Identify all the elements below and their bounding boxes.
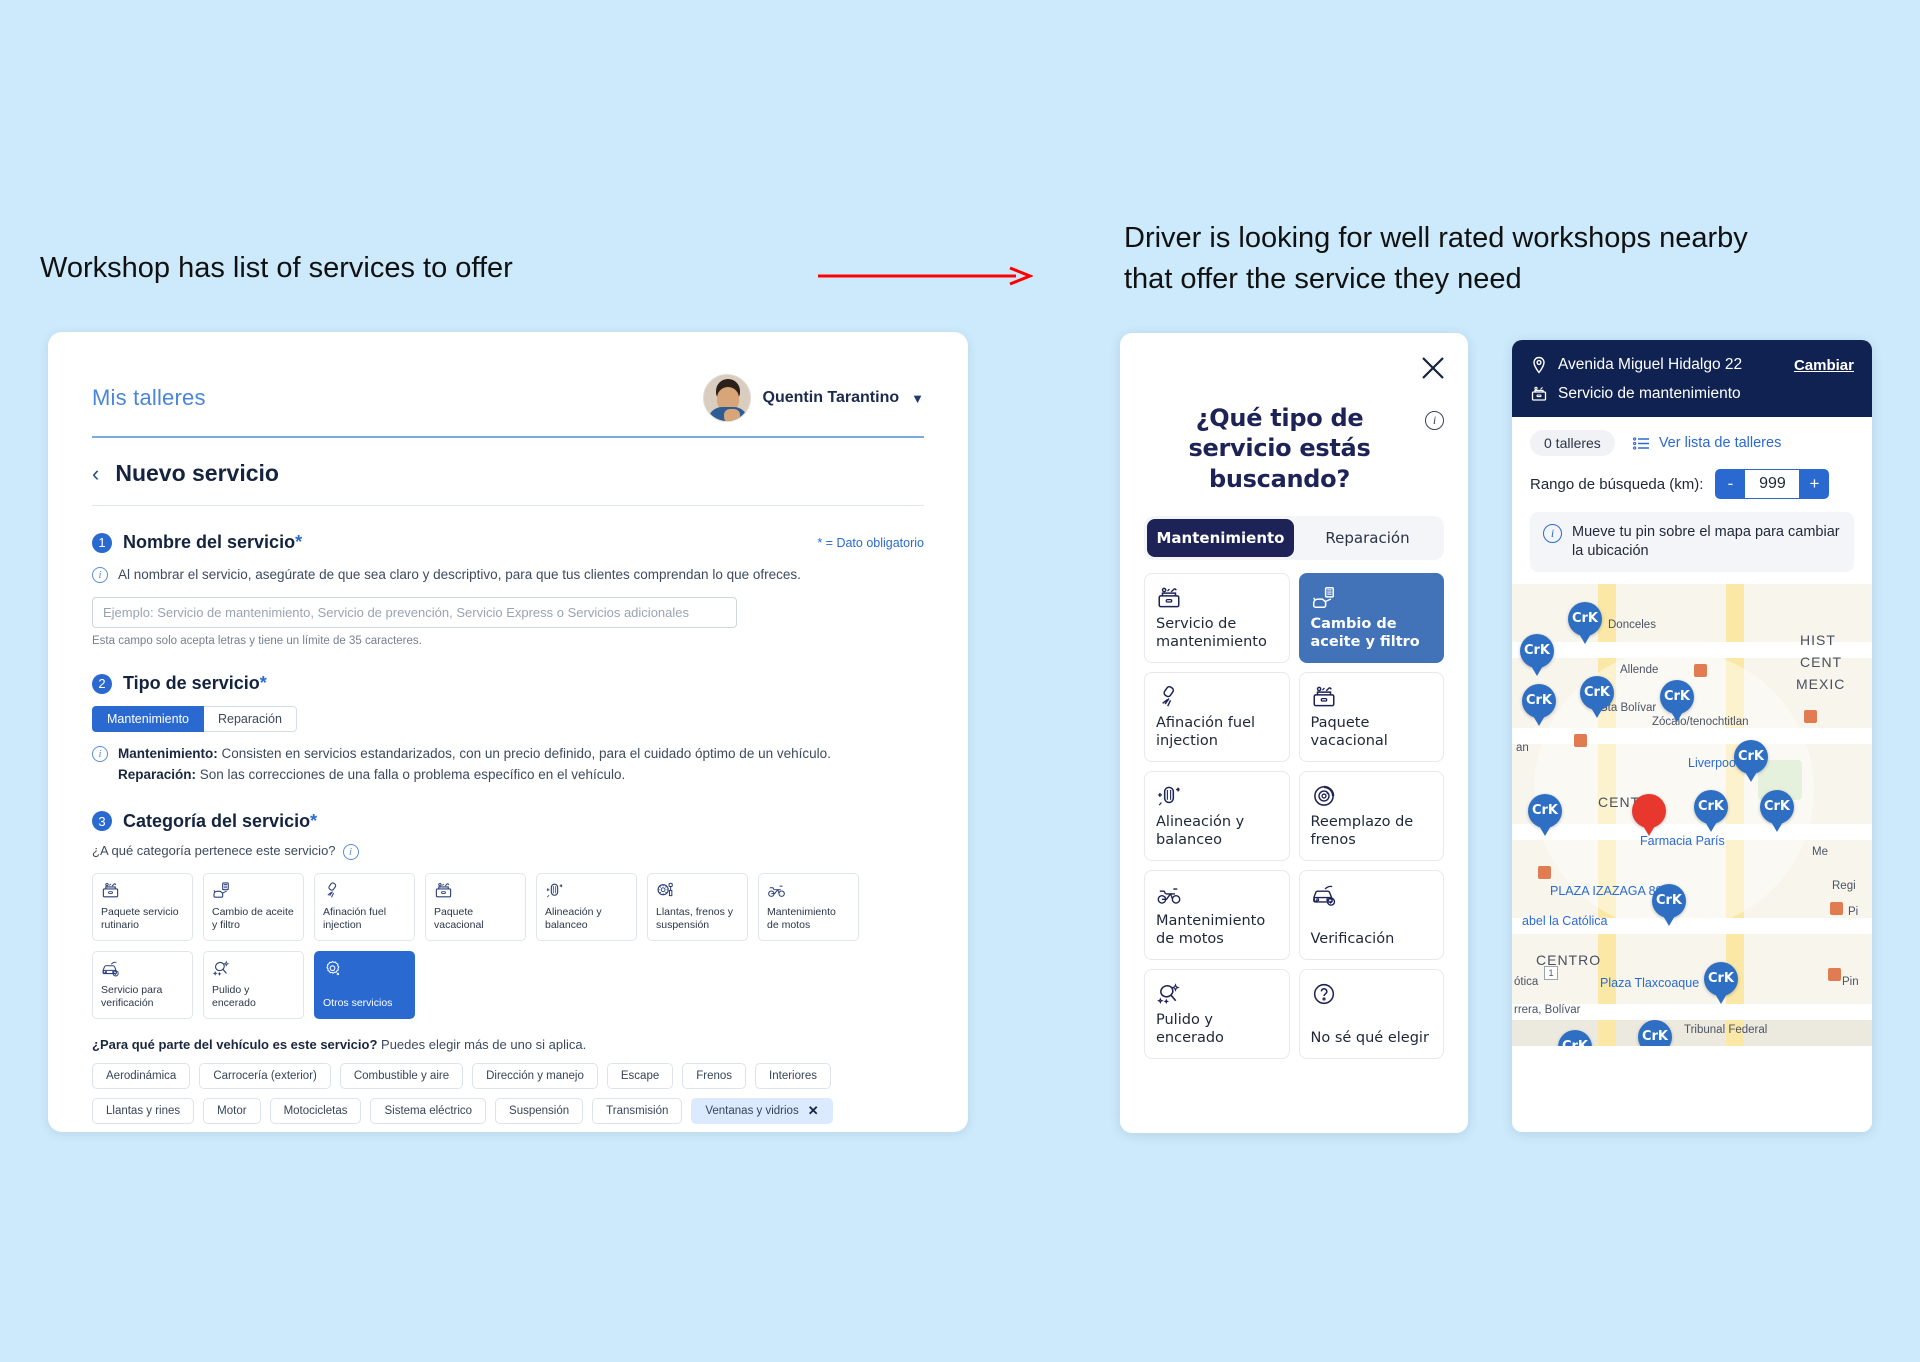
vehicle-part-chip-label: Frenos [696,1070,732,1082]
required-asterisk: * [260,673,267,693]
map-label-16: Tribunal Federal [1684,1024,1767,1036]
modal-service-card-label: Pulido y encerado [1156,1011,1278,1047]
pin-label: CrK [1520,634,1554,668]
vehicle-part-chip-label: Suspensión [509,1105,569,1117]
reparacion-term: Reparación: [118,767,196,782]
required-legend: * = Dato obligatorio [817,536,924,550]
step-2-label: Tipo de servicio* [123,673,267,694]
page-root: Workshop has list of services to offer D… [0,0,1920,1362]
category-card-label: Paquete vacacional [434,906,517,933]
vehicle-part-chip-7[interactable]: Llantas y rines [92,1098,194,1124]
category-card-6[interactable]: Mantenimiento de motos [758,873,859,941]
pin-tip [1744,770,1758,782]
map-label-20: Pin [1842,976,1859,988]
modal-service-card-label: No sé qué elegir [1311,1029,1433,1047]
map-label-12: abel la Católica [1522,914,1607,928]
modal-service-card-label: Mantenimiento de motos [1156,912,1278,948]
address-text: Avenida Miguel Hidalgo 22 [1558,356,1784,374]
pin-label: CrK [1734,740,1768,774]
category-card-4[interactable]: Alineación y balanceo [536,873,637,941]
modal-type-tabs: Mantenimiento Reparación [1144,516,1444,560]
map-label-13: CENTRO [1536,952,1601,968]
range-value[interactable]: 999 [1745,469,1799,499]
category-card-label: Mantenimiento de motos [767,906,850,933]
info-icon[interactable]: i [1425,411,1444,430]
vehicle-part-chip-label: Interiores [769,1070,817,1082]
address-row: Avenida Miguel Hidalgo 22 Cambiar [1530,356,1854,374]
vehicle-part-chip-label: Ventanas y vidrios [705,1105,798,1117]
tab-reparacion[interactable]: Reparación [204,706,297,732]
workshop-pin-3[interactable]: CrK [1580,676,1614,720]
car-check-icon [1311,882,1433,908]
step-2-info-text: Mantenimiento: Consisten en servicios es… [118,744,831,785]
modal-header: ¿Qué tipo de servicio estás buscando? i [1144,403,1444,494]
category-card-1[interactable]: Cambio de aceite y filtro [203,873,304,941]
pin-tip [1532,714,1546,726]
pin-tip [1590,706,1604,718]
service-type-tabs: Mantenimiento Reparación [92,706,924,732]
category-card-label: Otros servicios [323,997,406,1010]
toolbox-icon [101,881,184,900]
modal-service-card-label: Cambio de aceite y filtro [1311,615,1433,651]
required-asterisk: * [310,811,317,831]
mantenimiento-definition: Consisten en servicios estandarizados, c… [218,746,831,761]
workshop-count-badge: 0 talleres [1530,430,1615,456]
modal-service-card-label: Servicio de mantenimiento [1156,615,1278,651]
polish-icon [1156,981,1278,1007]
pin-label: CrK [1568,602,1602,636]
info-icon: i [92,746,108,762]
pin-label: CrK [1558,1030,1592,1046]
category-card-3[interactable]: Paquete vacacional [425,873,526,941]
pin-label: CrK [1660,680,1694,714]
modal-service-card-7[interactable]: Verificación [1299,870,1445,960]
map-label-21: ótica [1514,976,1538,988]
car-check-icon [101,959,184,978]
modal-service-card-label: Alineación y balanceo [1156,813,1278,849]
vehicle-part-chip-label: Carrocería (exterior) [213,1070,317,1082]
flow-arrow-icon [818,265,1033,287]
vehicle-part-chip-2[interactable]: Combustible y aire [340,1063,463,1089]
avatar [703,374,751,422]
step-3-number: 3 [92,811,112,831]
current-location-pin[interactable] [1632,794,1666,838]
toolbox-icon [434,881,517,900]
map-label-18: Regi [1832,880,1856,892]
step-1-info-text: Al nombrar el servicio, asegúrate de que… [118,565,801,585]
map-hint: i Mueve tu pin sobre el mapa para cambia… [1530,512,1854,572]
range-decrease-button[interactable]: - [1715,469,1745,499]
info-icon[interactable]: i [343,844,359,860]
parts-question-rest: Puedes elegir más de uno si aplica. [377,1037,586,1052]
map-label-6: Liverpool [1688,756,1739,770]
view-list-label: Ver lista de talleres [1659,435,1782,451]
reparacion-definition: Son las correcciones de una falla o prob… [196,767,625,782]
card-header: Mis talleres Quentin Tarantino ▼ [92,374,924,422]
category-card-label: Alineación y balanceo [545,906,628,933]
pin-tip [1578,632,1592,644]
question-icon [1311,981,1433,1007]
vehicle-part-chip-label: Transmisión [606,1105,668,1117]
oil-can-icon [212,881,295,900]
close-icon[interactable] [1420,355,1446,381]
workshop-pin-10[interactable]: CrK [1652,884,1686,928]
pin-label: CrK [1580,676,1614,710]
map-search-panel: Avenida Miguel Hidalgo 22 Cambiar Servic… [1512,340,1872,1132]
toolbox-icon [1311,684,1433,710]
category-card-8[interactable]: Pulido y encerado [203,951,304,1019]
pin-tip [1530,664,1544,676]
workshop-pin-8[interactable]: CrK [1760,790,1794,834]
category-card-label: Paquete servicio rutinario [101,906,184,933]
service-text: Servicio de mantenimiento [1558,385,1741,403]
category-card-5[interactable]: Llantas, frenos y suspensión [647,873,748,941]
service-name-input[interactable]: Ejemplo: Servicio de mantenimiento, Serv… [92,597,737,628]
map-canvas[interactable]: 1 DoncelesAllendeHISTCENTMEXICZócalo/ten… [1512,584,1872,1046]
category-card-0[interactable]: Paquete servicio rutinario [92,873,193,941]
motorcycle-icon [767,881,850,900]
map-label-15: rrera, Bolívar [1514,1004,1580,1016]
step-2-info: i Mantenimiento: Consisten en servicios … [92,744,924,785]
map-label-8: an [1516,742,1529,754]
service-type-modal: ¿Qué tipo de servicio estás buscando? i … [1120,333,1468,1133]
modal-service-grid: Servicio de mantenimientoCambio de aceit… [1144,573,1444,1059]
modal-service-card-8[interactable]: Pulido y encerado [1144,969,1290,1059]
workshop-service-form-card: Mis talleres Quentin Tarantino ▼ ‹ Nuevo… [48,332,968,1132]
modal-tab-reparacion[interactable]: Reparación [1294,519,1441,557]
required-asterisk: * [295,532,302,552]
page-title-row: ‹ Nuevo servicio [92,460,924,487]
workshop-pin-4[interactable]: CrK [1660,680,1694,724]
brake-disc-icon [1311,783,1433,809]
pin-tip [1670,710,1684,722]
modal-service-card-4[interactable]: Alineación y balanceo [1144,771,1290,861]
info-icon: i [92,567,108,583]
category-card-7[interactable]: Servicio para verificación [92,951,193,1019]
vehicle-part-chip-label: Dirección y manejo [486,1070,584,1082]
list-icon [1633,435,1650,452]
workshop-pin-5[interactable]: CrK [1734,740,1768,784]
user-name: Quentin Tarantino [763,389,900,407]
category-card-label: Llantas, frenos y suspensión [656,906,739,933]
gear-icon [323,959,406,978]
range-increase-button[interactable]: + [1799,469,1829,499]
breadcrumb-mis-talleres[interactable]: Mis talleres [92,385,206,411]
parts-question: ¿Para qué parte del vehículo es este ser… [92,1037,924,1052]
fuel-injector-icon [1156,684,1278,710]
pin-label: CrK [1522,684,1556,718]
vehicle-part-chip-13[interactable]: Ventanas y vidrios✕ [691,1098,832,1124]
map-header: Avenida Miguel Hidalgo 22 Cambiar Servic… [1512,340,1872,417]
modal-service-card-9[interactable]: No sé qué elegir [1299,969,1445,1059]
category-card-2[interactable]: Afinación fuel injection [314,873,415,941]
vehicle-part-chip-0[interactable]: Aerodinámica [92,1063,190,1089]
modal-service-card-0[interactable]: Servicio de mantenimiento [1144,573,1290,663]
vehicle-part-chip-10[interactable]: Sistema eléctrico [370,1098,486,1124]
map-label-19: Pi [1848,906,1858,918]
pin-label: CrK [1528,794,1562,828]
category-card-9[interactable]: Otros servicios [314,951,415,1019]
map-label-3: CENT [1800,654,1842,670]
tire-align-icon [1156,783,1278,809]
remove-chip-icon[interactable]: ✕ [808,1103,819,1119]
pin-tip [1770,820,1784,832]
workshop-pin-11[interactable]: CrK [1704,962,1738,1006]
step-1-header: 1 Nombre del servicio* [92,532,302,553]
pin-label: CrK [1694,790,1728,824]
modal-service-card-label: Verificación [1311,930,1433,948]
vehicle-part-chip-label: Llantas y rines [106,1105,180,1117]
vehicle-part-chip-5[interactable]: Frenos [682,1063,746,1089]
vehicle-part-chip-label: Aerodinámica [106,1070,176,1082]
modal-service-card-3[interactable]: Paquete vacacional [1299,672,1445,762]
step-2-header: 2 Tipo de servicio* [92,673,924,694]
category-question-text: ¿A qué categoría pertenece este servicio… [92,843,336,858]
annotation-right: Driver is looking for well rated worksho… [1124,218,1748,300]
workshop-pin-13[interactable]: CrK [1558,1030,1592,1046]
category-card-label: Cambio de aceite y filtro [212,906,295,933]
step-1-number: 1 [92,533,112,553]
vehicle-part-chip-4[interactable]: Escape [607,1063,673,1089]
step-3-label: Categoría del servicio* [123,811,317,832]
workshop-pin-7[interactable]: CrK [1694,790,1728,834]
modal-title: ¿Qué tipo de servicio estás buscando? [1144,403,1415,494]
vehicle-part-chip-label: Combustible y aire [354,1070,449,1082]
motorcycle-icon [1156,882,1278,908]
map-label-4: MEXIC [1796,676,1845,692]
step-2-number: 2 [92,674,112,694]
map-label-1: Allende [1620,664,1658,676]
modal-tab-mantenimiento[interactable]: Mantenimiento [1147,519,1294,557]
pin-tip [1642,824,1656,836]
vehicle-part-chip-3[interactable]: Dirección y manejo [472,1063,598,1089]
step-3-label-text: Categoría del servicio [123,811,310,831]
modal-service-card-2[interactable]: Afinación fuel injection [1144,672,1290,762]
map-label-14: Plaza Tlaxcoaque [1600,976,1699,990]
header-divider [92,436,924,438]
pin-label: CrK [1652,884,1686,918]
modal-service-card-label: Paquete vacacional [1311,714,1433,750]
polish-icon [212,959,295,978]
pin-label: CrK [1760,790,1794,824]
pin-tip [1662,914,1676,926]
oil-can-icon [1311,585,1433,611]
toolbox-icon [1156,585,1278,611]
vehicle-part-chip-label: Sistema eléctrico [384,1105,472,1117]
step-1-label-text: Nombre del servicio [123,532,295,552]
map-label-2: HIST [1800,632,1836,648]
pin-label [1632,794,1666,828]
step-2-label-text: Tipo de servicio [123,673,260,693]
modal-service-card-label: Reemplazo de frenos [1311,813,1433,849]
chevron-down-icon[interactable]: ▼ [911,391,924,406]
location-pin-icon [1530,356,1548,374]
vehicle-part-chip-11[interactable]: Suspensión [495,1098,583,1124]
category-card-label: Pulido y encerado [212,984,295,1011]
category-question: ¿A qué categoría pertenece este servicio… [92,842,924,860]
vehicle-part-chip-9[interactable]: Motocicletas [270,1098,362,1124]
modal-service-card-1[interactable]: Cambio de aceite y filtro [1299,573,1445,663]
step-1-label: Nombre del servicio* [123,532,302,553]
vehicle-part-chip-label: Motocicletas [284,1105,348,1117]
map-controls: 0 talleres Ver lista de talleres Rango d… [1512,417,1872,584]
category-card-label: Afinación fuel injection [323,906,406,933]
map-label-0: Donceles [1608,619,1656,631]
pin-tip [1714,992,1728,1004]
vehicle-part-chip-8[interactable]: Motor [203,1098,260,1124]
annotation-left: Workshop has list of services to offer [40,248,513,289]
pin-label: CrK [1638,1020,1672,1046]
pin-tip [1538,824,1552,836]
modal-service-card-label: Afinación fuel injection [1156,714,1278,750]
map-label-17: Me [1812,846,1828,858]
vehicle-part-chip-label: Motor [217,1105,246,1117]
vehicle-part-chip-label: Escape [621,1070,659,1082]
back-chevron-icon[interactable]: ‹ [92,461,99,487]
map-hint-text: Mueve tu pin sobre el mapa para cambiar … [1572,523,1841,561]
map-label-11: PLAZA IZAZAGA 89 [1550,884,1663,898]
service-name-helper: Esta campo solo acepta letras y tiene un… [92,635,924,647]
fuel-injector-icon [323,881,406,900]
workshop-pin-0[interactable]: CrK [1568,602,1602,646]
tire-align-icon [545,881,628,900]
tab-mantenimiento[interactable]: Mantenimiento [92,706,204,732]
vehicle-part-chip-1[interactable]: Carrocería (exterior) [199,1063,331,1089]
vehicle-parts-chips: AerodinámicaCarrocería (exterior)Combust… [92,1063,892,1124]
range-row: Rango de búsqueda (km): - 999 + [1530,469,1854,499]
range-label: Rango de búsqueda (km): [1530,476,1703,493]
vehicle-part-chip-12[interactable]: Transmisión [592,1098,682,1124]
workshop-pin-6[interactable]: CrK [1528,794,1562,838]
range-stepper: - 999 + [1715,469,1829,499]
workshop-pin-12[interactable]: CrK [1638,1020,1672,1046]
step-1-info: i Al nombrar el servicio, asegúrate de q… [92,565,924,585]
user-menu[interactable]: Quentin Tarantino ▼ [703,374,924,422]
modal-service-card-5[interactable]: Reemplazo de frenos [1299,771,1445,861]
pin-tip [1704,820,1718,832]
step-3-header: 3 Categoría del servicio* [92,811,924,832]
parts-question-bold: ¿Para qué parte del vehículo es este ser… [92,1037,377,1052]
change-address-link[interactable]: Cambiar [1794,357,1854,374]
wheel-suspension-icon [656,881,739,900]
service-row: Servicio de mantenimiento [1530,385,1854,403]
view-workshop-list-link[interactable]: Ver lista de talleres [1633,435,1782,452]
workshop-pin-2[interactable]: CrK [1522,684,1556,728]
category-grid: Paquete servicio rutinarioCambio de acei… [92,873,882,1019]
vehicle-part-chip-6[interactable]: Interiores [755,1063,831,1089]
pin-label: CrK [1704,962,1738,996]
category-card-label: Servicio para verificación [101,984,184,1011]
toolbox-icon [1530,385,1548,403]
mantenimiento-term: Mantenimiento: [118,746,218,761]
modal-service-card-6[interactable]: Mantenimiento de motos [1144,870,1290,960]
results-row: 0 talleres Ver lista de talleres [1530,430,1854,456]
workshop-pin-1[interactable]: CrK [1520,634,1554,678]
page-title: Nuevo servicio [115,460,279,487]
info-icon: i [1543,524,1562,543]
